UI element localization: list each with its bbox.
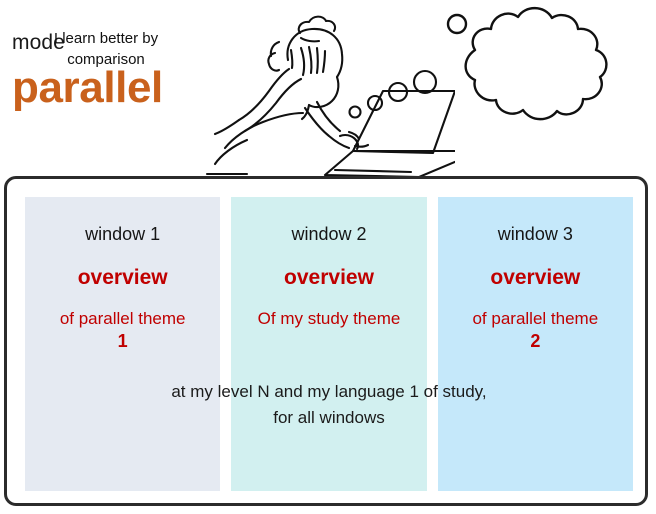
window-column-2[interactable]: window 2 overview Of my study theme — [231, 197, 426, 491]
window-description: of parallel theme 2 — [434, 307, 637, 353]
thought-bubble-icon — [445, 4, 655, 134]
windows-frame: window 1 overview of parallel theme 1 wi… — [4, 176, 648, 506]
window-description-emphasis: 1 — [21, 330, 224, 353]
window-title: window 3 — [438, 223, 633, 245]
window-overview-heading: overview — [438, 265, 633, 290]
window-title: window 2 — [231, 223, 426, 245]
window-overview-heading: overview — [231, 265, 426, 290]
windows-row: window 1 overview of parallel theme 1 wi… — [25, 197, 633, 491]
window-overview-heading: overview — [25, 265, 220, 290]
window-description-text: of parallel theme — [60, 309, 186, 328]
window-description-emphasis: 2 — [434, 330, 637, 353]
window-column-3[interactable]: window 3 overview of parallel theme 2 — [438, 197, 633, 491]
window-column-1[interactable]: window 1 overview of parallel theme 1 — [25, 197, 220, 491]
window-title: window 1 — [25, 223, 220, 245]
window-description: of parallel theme 1 — [21, 307, 224, 353]
thought-bubble-text: I learn better by comparison — [34, 28, 178, 70]
window-description-text: of parallel theme — [472, 309, 598, 328]
window-description-text: Of my study theme — [258, 309, 401, 328]
person-studying-at-laptop-illustration — [205, 0, 455, 176]
header-area: mode parallel — [0, 0, 656, 176]
window-description: Of my study theme — [227, 307, 430, 330]
